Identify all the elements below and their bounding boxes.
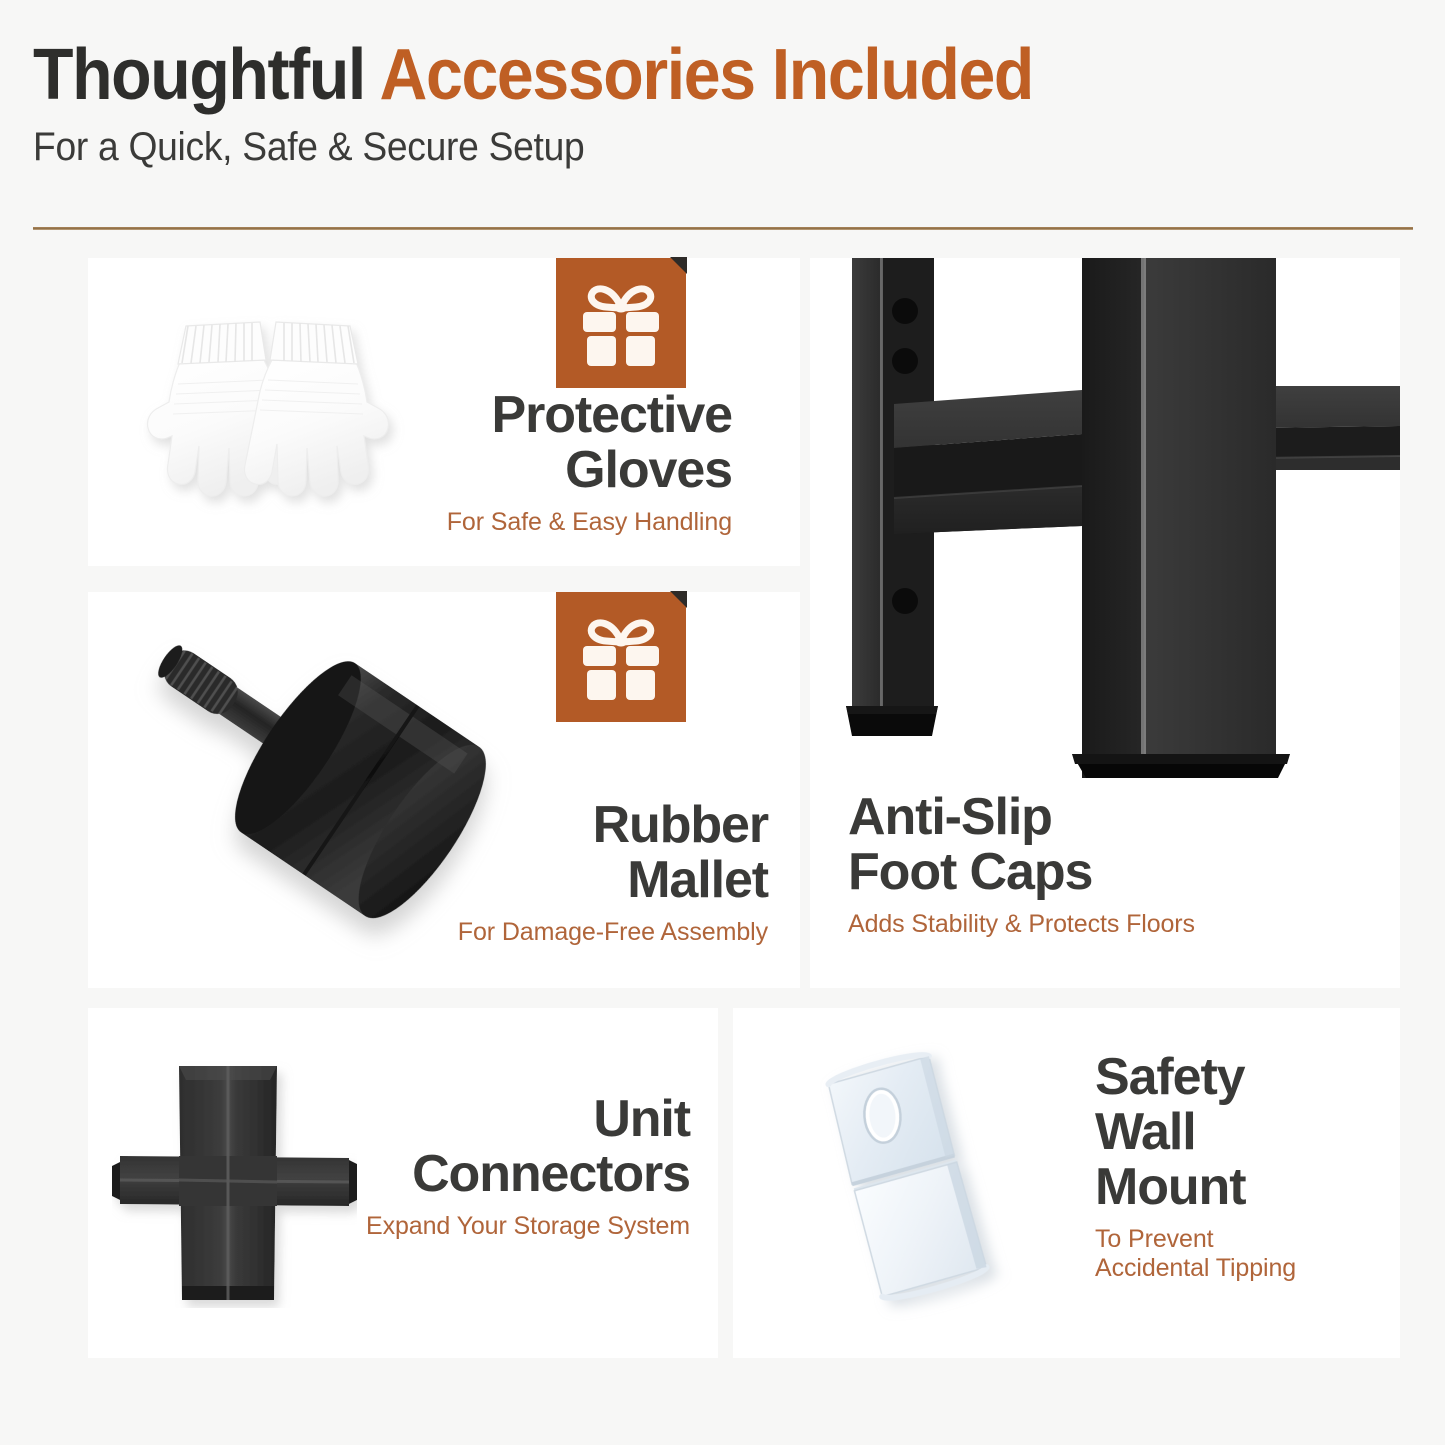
gloves-illustration <box>118 296 418 546</box>
card-mallet-title-line2: Mallet <box>380 853 768 908</box>
card-footcaps-text: Anti-Slip Foot Caps Adds Stability & Pro… <box>848 790 1368 939</box>
shelf-foot-caps-illustration <box>810 258 1400 778</box>
card-connectors-title-line1: Unit <box>330 1092 690 1147</box>
card-gloves-text: Protective Gloves For Safe & Easy Handli… <box>400 388 732 537</box>
page-title: Thoughtful Accessories Included <box>33 38 1303 113</box>
card-connectors-subtitle: Expand Your Storage System <box>330 1212 690 1241</box>
infographic-page: Thoughtful Accessories Included For a Qu… <box>0 0 1445 1445</box>
card-wallmount-title-line3: Mount <box>1095 1160 1395 1215</box>
card-connectors-title-line2: Connectors <box>330 1147 690 1202</box>
card-mallet-subtitle: For Damage-Free Assembly <box>380 918 768 947</box>
card-wallmount-subtitle-line2: Accidental Tipping <box>1095 1254 1395 1283</box>
card-gloves-title-line2: Gloves <box>400 443 732 498</box>
card-connectors-text: Unit Connectors Expand Your Storage Syst… <box>330 1092 690 1241</box>
page-subtitle: For a Quick, Safe & Secure Setup <box>33 125 1316 170</box>
gift-icon <box>578 278 664 368</box>
card-footcaps-subtitle: Adds Stability & Protects Floors <box>848 910 1368 939</box>
card-wallmount-subtitle-line1: To Prevent <box>1095 1225 1395 1254</box>
connector-illustration <box>112 1058 357 1308</box>
gift-badge-gloves <box>556 258 686 388</box>
header: Thoughtful Accessories Included For a Qu… <box>33 38 1413 170</box>
gift-icon <box>578 612 664 702</box>
page-title-part1: Thoughtful <box>33 35 380 115</box>
card-wallmount-title-line1: Safety <box>1095 1050 1395 1105</box>
card-mallet-title-line1: Rubber <box>380 798 768 853</box>
badge-fold-corner <box>670 257 687 274</box>
page-title-part2: Accessories Included <box>380 35 1034 115</box>
badge-fold-corner <box>670 591 687 608</box>
header-divider <box>33 227 1413 230</box>
card-wallmount-title-line2: Wall <box>1095 1105 1395 1160</box>
gift-badge-mallet <box>556 592 686 722</box>
card-gloves-subtitle: For Safe & Easy Handling <box>400 508 732 537</box>
card-footcaps-title-line2: Foot Caps <box>848 845 1368 900</box>
card-gloves-title-line1: Protective <box>400 388 732 443</box>
wall-mount-illustration <box>775 1035 1075 1325</box>
card-mallet-text: Rubber Mallet For Damage-Free Assembly <box>380 798 768 947</box>
card-footcaps-title-line1: Anti-Slip <box>848 790 1368 845</box>
card-wallmount-text: Safety Wall Mount To Prevent Accidental … <box>1095 1050 1395 1283</box>
